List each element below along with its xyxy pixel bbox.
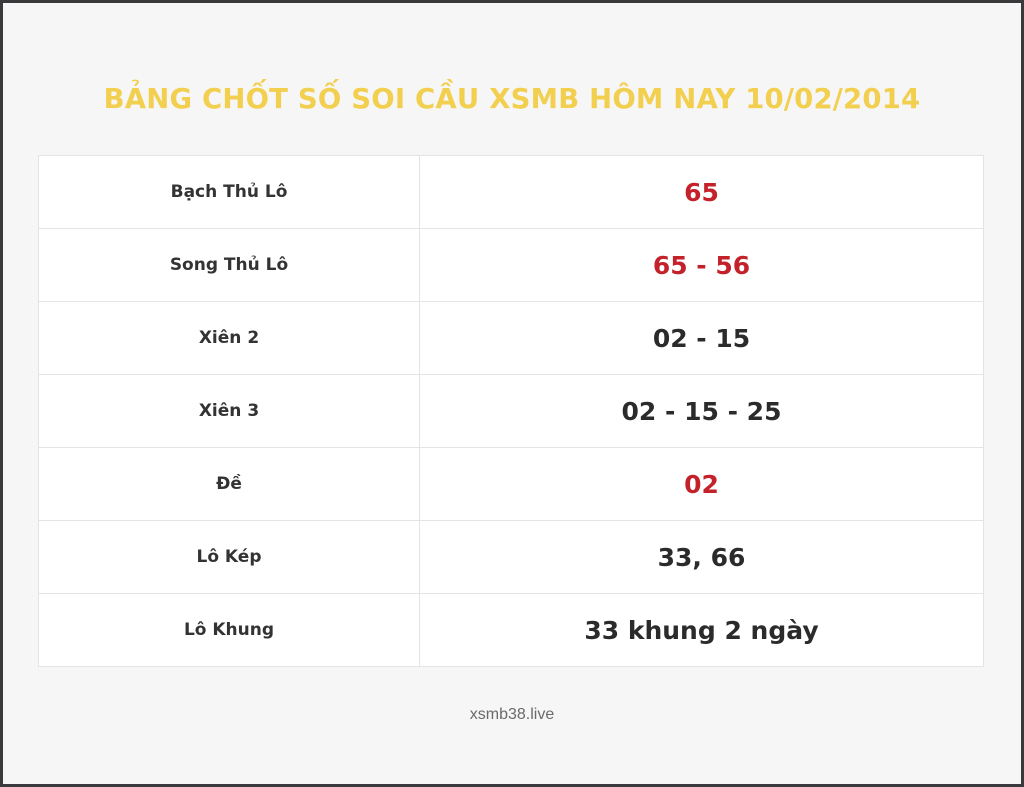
table-row: Lô Kép 33, 66 [39, 521, 984, 594]
table-row: Bạch Thủ Lô 65 [39, 156, 984, 229]
row-label-bach-thu-lo: Bạch Thủ Lô [39, 156, 420, 229]
row-value-xien-2: 02 - 15 [420, 302, 984, 375]
table-row: Xiên 2 02 - 15 [39, 302, 984, 375]
screenshot-canvas: BẢNG CHỐT SỐ SOI CẦU XSMB HÔM NAY 10/02/… [3, 3, 1021, 784]
row-value-lo-khung: 33 khung 2 ngày [420, 594, 984, 667]
row-label-xien-2: Xiên 2 [39, 302, 420, 375]
table-row: Song Thủ Lô 65 - 56 [39, 229, 984, 302]
site-watermark: xsmb38.live [3, 706, 1021, 724]
row-label-xien-3: Xiên 3 [39, 375, 420, 448]
row-value-de: 02 [420, 448, 984, 521]
row-label-song-thu-lo: Song Thủ Lô [39, 229, 420, 302]
table-body: Bạch Thủ Lô 65 Song Thủ Lô 65 - 56 Xiên … [39, 156, 984, 667]
soi-cau-table: Bạch Thủ Lô 65 Song Thủ Lô 65 - 56 Xiên … [38, 155, 984, 667]
row-value-bach-thu-lo: 65 [420, 156, 984, 229]
page-title: BẢNG CHỐT SỐ SOI CẦU XSMB HÔM NAY 10/02/… [3, 83, 1021, 115]
row-value-lo-kep: 33, 66 [420, 521, 984, 594]
table-row: Đề 02 [39, 448, 984, 521]
row-value-xien-3: 02 - 15 - 25 [420, 375, 984, 448]
row-label-de: Đề [39, 448, 420, 521]
table-row: Lô Khung 33 khung 2 ngày [39, 594, 984, 667]
row-label-lo-khung: Lô Khung [39, 594, 420, 667]
table-row: Xiên 3 02 - 15 - 25 [39, 375, 984, 448]
row-label-lo-kep: Lô Kép [39, 521, 420, 594]
row-value-song-thu-lo: 65 - 56 [420, 229, 984, 302]
